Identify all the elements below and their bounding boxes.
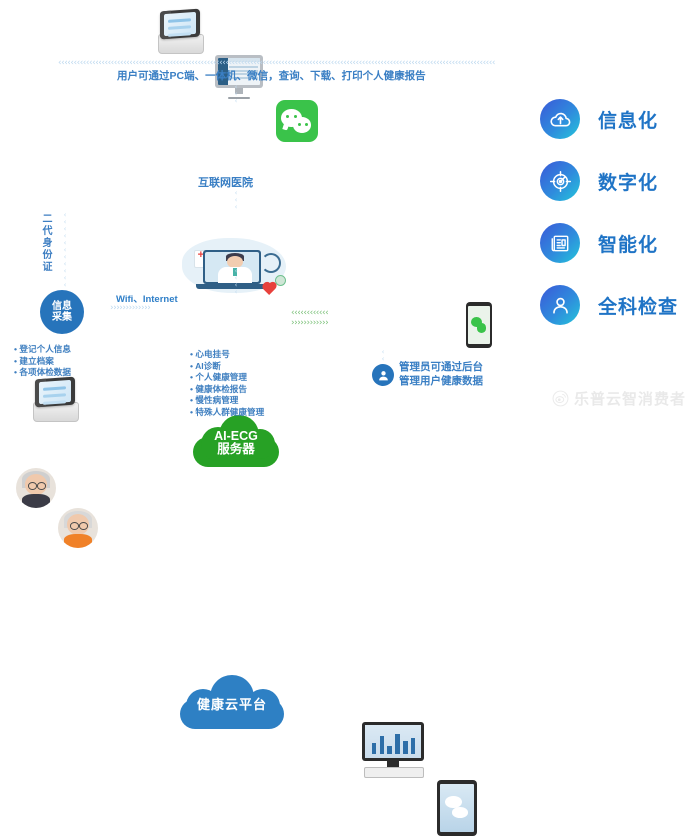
watermark: 乐普云智消费者	[552, 388, 686, 409]
top-caption: 用户可通过PC端、一体机、微信，查询、下载、打印个人健康报告	[117, 68, 426, 83]
feature-label: 全科检查	[598, 292, 678, 319]
diagram-canvas: ‹‹‹‹‹‹‹‹‹‹‹‹‹‹‹‹‹‹‹‹‹‹‹‹‹‹‹‹‹‹‹‹‹‹‹‹‹‹‹‹…	[0, 0, 700, 423]
kiosk-screen	[164, 12, 196, 36]
list-item: 慢性病管理	[190, 395, 264, 407]
connector-idcard-vertical: ‹‹‹‹‹‹‹‹‹‹‹	[61, 212, 69, 292]
chart-bar	[380, 736, 384, 754]
admin-caption: 管理员可通过后台 管理用户健康数据	[399, 360, 483, 388]
info-collect-badge: 信息 采集	[40, 290, 84, 334]
weibo-icon	[552, 390, 569, 407]
list-item: 个人健康管理	[190, 372, 264, 384]
wechat-eye	[298, 123, 301, 126]
admin-tablet	[437, 780, 477, 836]
connector-caption-to-hospital: ‹‹‹	[232, 84, 240, 106]
admin-monitor-stand	[387, 761, 399, 767]
connector-hospital-to-server: ‹‹‹	[232, 190, 240, 214]
wechat-bubble-small	[293, 117, 311, 133]
wechat-eye	[305, 123, 308, 126]
feature-label: 智能化	[598, 230, 658, 257]
avatar-body	[22, 494, 51, 508]
device-kiosk-left	[33, 378, 77, 422]
server-cloud-label: AI-ECG 服务器	[214, 430, 258, 457]
feature-list: 信息化 数字化 智能化	[540, 88, 700, 336]
feature-item-informatization[interactable]: 信息化	[540, 88, 700, 150]
avatar-elderly-man	[16, 468, 56, 508]
target-crosshair-icon	[540, 161, 580, 201]
feature-label: 信息化	[598, 106, 658, 133]
admin-desktop-monitor	[362, 722, 424, 778]
list-item: AI诊断	[190, 361, 264, 373]
platform-bullets: 心电挂号 AI诊断 个人健康管理 健康体检报告 慢性病管理 特殊人群健康管理	[190, 349, 264, 419]
person-icon	[540, 285, 580, 325]
list-item: 建立档案	[14, 356, 71, 368]
list-item: 特殊人群健康管理	[190, 407, 264, 419]
info-collect-line2: 采集	[52, 312, 72, 323]
admin-caption-line1: 管理员可通过后台	[399, 360, 483, 374]
chat-bubble	[452, 807, 468, 818]
avatar-glasses-right	[37, 482, 46, 490]
document-report-icon	[540, 223, 580, 263]
avatar-body	[64, 534, 93, 548]
wechat-icon	[276, 100, 318, 142]
admin-phone	[466, 302, 492, 348]
wechat-bubble-small	[477, 323, 487, 332]
feature-item-intelligentization[interactable]: 智能化	[540, 212, 700, 274]
admin-monitor-screen	[365, 725, 421, 758]
heart-icon	[264, 283, 276, 295]
connector-platform-to-admin-left: ‹‹‹‹‹‹‹‹‹‹‹‹	[291, 309, 355, 317]
chart-bar	[395, 734, 399, 755]
list-item: 健康体检报告	[190, 384, 264, 396]
list-item: 心电挂号	[190, 349, 264, 361]
pill-icon	[275, 275, 286, 286]
connector-top-horizontal: ‹‹‹‹‹‹‹‹‹‹‹‹‹‹‹‹‹‹‹‹‹‹‹‹‹‹‹‹‹‹‹‹‹‹‹‹‹‹‹‹…	[58, 59, 642, 67]
wechat-eye	[294, 115, 297, 118]
connector-admin-to-platform-right: ››››››››››››	[291, 319, 355, 327]
feature-label: 数字化	[598, 168, 658, 195]
connector-admin-vertical: ‹‹	[379, 349, 387, 365]
list-item: 登记个人信息	[14, 344, 71, 356]
wechat-eye	[286, 115, 289, 118]
platform-cloud-label: 健康云平台	[197, 698, 267, 712]
device-kiosk-top	[158, 10, 202, 54]
avatar-glasses-right	[79, 522, 88, 530]
feature-item-digitalization[interactable]: 数字化	[540, 150, 700, 212]
person-icon	[377, 369, 390, 382]
feature-item-general-checkup[interactable]: 全科检查	[540, 274, 700, 336]
kiosk-head	[35, 377, 75, 408]
info-collect-bullets: 登记个人信息 建立档案 各项体检数据	[14, 344, 71, 379]
cloud-upload-icon	[540, 99, 580, 139]
kiosk-head	[160, 9, 200, 40]
chart-bar	[372, 743, 376, 754]
health-cloud-platform: 健康云平台	[180, 673, 284, 729]
doctor-head	[227, 256, 243, 268]
admin-person-badge	[372, 364, 394, 386]
list-item: 各项体检数据	[14, 367, 71, 379]
admin-caption-line2: 管理用户健康数据	[399, 374, 483, 388]
internet-hospital-label: 互联网医院	[198, 174, 253, 190]
chart-bar	[403, 741, 407, 754]
id-card-label: 二代身份证	[38, 213, 53, 273]
server-cloud-line2: 服务器	[214, 443, 258, 457]
tablet-screen	[440, 784, 474, 832]
ai-ecg-server-cloud: AI-ECG 服务器	[193, 413, 279, 467]
avatar-elderly-woman	[58, 508, 98, 548]
connector-network-horizontal: ›››››››››››››	[110, 304, 186, 312]
stethoscope-icon	[261, 253, 281, 273]
info-collect-line1: 信息	[52, 301, 72, 312]
connector-server-to-platform: ‹‹‹‹	[232, 268, 240, 296]
server-cloud-line1: AI-ECG	[214, 430, 258, 444]
admin-monitor-body	[362, 722, 424, 761]
watermark-text: 乐普云智消费者	[574, 388, 686, 409]
kiosk-screen	[39, 380, 71, 404]
network-label: Wifi、Internet	[116, 291, 178, 305]
admin-keyboard	[364, 767, 423, 778]
chart-bar	[411, 738, 415, 755]
phone-screen	[468, 306, 490, 344]
chart-bar	[387, 746, 391, 755]
